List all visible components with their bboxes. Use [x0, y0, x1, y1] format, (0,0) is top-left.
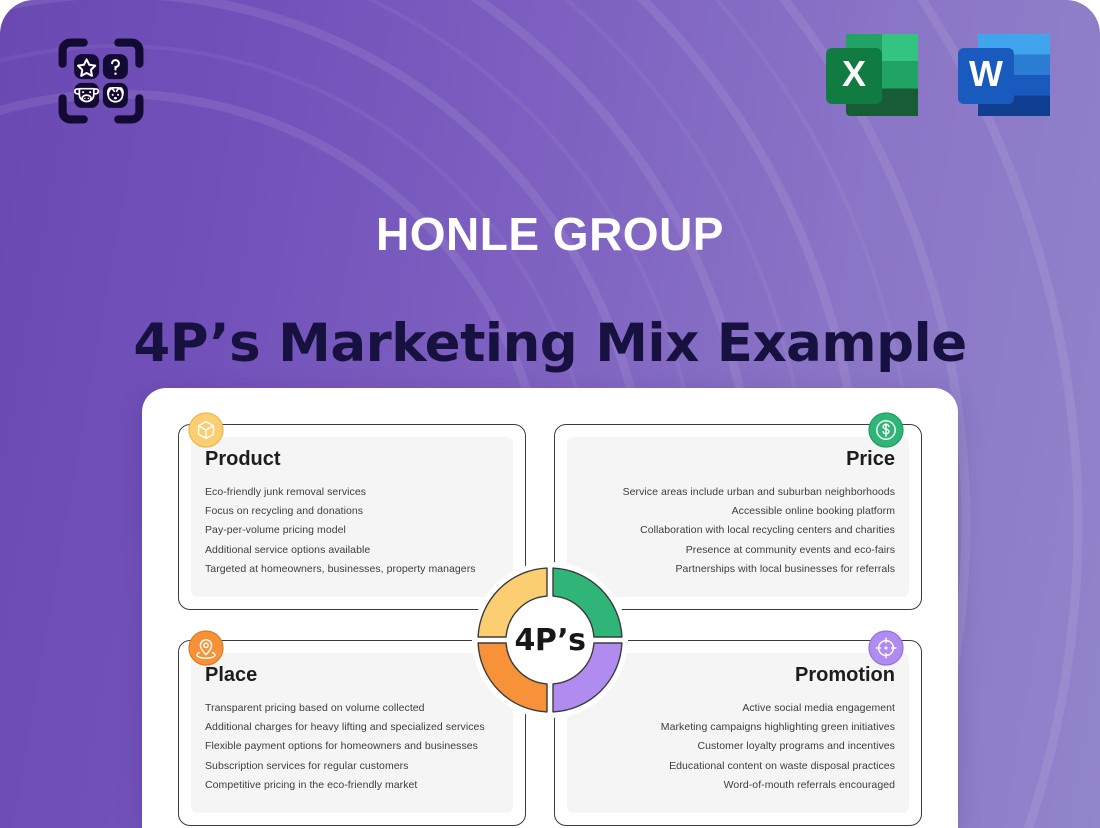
quadrant-product-bullets: Eco-friendly junk removal services Focus…: [205, 483, 499, 579]
list-item: Subscription services for regular custom…: [205, 757, 499, 776]
list-item: Customer loyalty programs and incentives: [581, 737, 895, 756]
list-item: Presence at community events and eco-fai…: [581, 541, 895, 560]
donut-svg: [471, 561, 629, 719]
list-item: Focus on recycling and donations: [205, 502, 499, 521]
logo-tile-dog: [103, 83, 128, 108]
page-title: 4P’s Marketing Mix Example: [0, 308, 1100, 380]
dollar-coin-icon[interactable]: [868, 412, 904, 448]
list-item: Marketing campaigns highlighting green i…: [581, 718, 895, 737]
quadrant-place-title: Place: [205, 663, 499, 687]
office-app-icons: X W: [820, 28, 1056, 122]
list-item: Transparent pricing based on volume coll…: [205, 699, 499, 718]
quadrant-price-title: Price: [581, 447, 895, 471]
word-icon[interactable]: W: [952, 28, 1056, 122]
slide-canvas: X W HONLE GROUP 4P’s Marketing Mix Examp…: [0, 0, 1100, 828]
list-item: Flexible payment options for homeowners …: [205, 737, 499, 756]
quadrant-place-bullets: Transparent pricing based on volume coll…: [205, 699, 499, 795]
quadrant-product-panel: Product Eco-friendly junk removal servic…: [191, 437, 513, 597]
excel-icon[interactable]: X: [820, 28, 924, 122]
excel-letter: X: [842, 53, 866, 94]
list-item: Educational content on waste disposal pr…: [581, 757, 895, 776]
list-item: Targeted at homeowners, businesses, prop…: [205, 560, 499, 579]
center-donut-chart: 4P’s: [471, 561, 629, 719]
location-pin-icon[interactable]: [188, 630, 224, 666]
quiz-scan-logo[interactable]: [53, 33, 149, 129]
word-letter: W: [969, 53, 1003, 94]
list-item: Competitive pricing in the eco-friendly …: [205, 776, 499, 795]
list-item: Additional service options available: [205, 541, 499, 560]
quadrant-place-panel: Place Transparent pricing based on volum…: [191, 653, 513, 813]
company-name: HONLE GROUP: [0, 205, 1100, 263]
package-box-icon[interactable]: [188, 412, 224, 448]
list-item: Collaboration with local recycling cente…: [581, 521, 895, 540]
list-item: Pay-per-volume pricing model: [205, 521, 499, 540]
target-crosshair-icon[interactable]: [868, 630, 904, 666]
quadrant-product-title: Product: [205, 447, 499, 471]
list-item: Eco-friendly junk removal services: [205, 483, 499, 502]
list-item: Accessible online booking platform: [581, 502, 895, 521]
list-item: Additional charges for heavy lifting and…: [205, 718, 499, 737]
list-item: Word-of-mouth referrals encouraged: [581, 776, 895, 795]
list-item: Service areas include urban and suburban…: [581, 483, 895, 502]
